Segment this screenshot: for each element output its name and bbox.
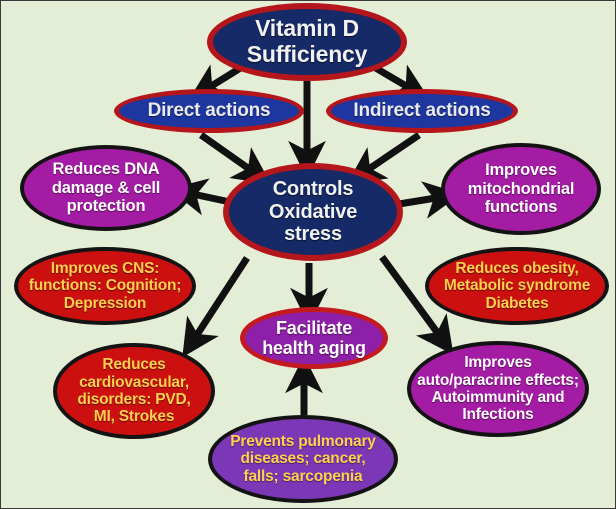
- node-vitamin-d-sufficiency[interactable]: Vitamin DSufficiency: [207, 3, 407, 81]
- arrow-indirect-controls: [363, 135, 419, 173]
- node-controls-oxidative-stress[interactable]: ControlsOxidativestress: [223, 163, 403, 261]
- node-label: Improvesmitochondrialfunctions: [445, 161, 597, 216]
- node-label: Facilitatehealth aging: [245, 318, 383, 358]
- node-improves-mitochondrial-functions[interactable]: Improvesmitochondrialfunctions: [441, 143, 601, 235]
- node-improves-cns-functions[interactable]: Improves CNS:functions: Cognition;Depres…: [14, 247, 196, 325]
- node-improves-auto-paracrine-effects[interactable]: Improvesauto/paracrine effects;Autoimmun…: [407, 341, 589, 437]
- node-label: Improves CNS:functions: Cognition;Depres…: [18, 260, 192, 312]
- node-label: Direct actions: [119, 100, 299, 121]
- arrow-controls-cardio: [193, 258, 247, 341]
- node-label: Reduces DNAdamage & cellprotection: [24, 160, 188, 215]
- arrow-direct-controls: [201, 135, 255, 173]
- node-reduces-cardiovascular-disorders[interactable]: Reducescardiovascular,disorders: PVD,MI,…: [53, 343, 215, 439]
- arrow-controls-mito: [399, 197, 442, 204]
- diagram-canvas: Vitamin DSufficiency Direct actions Indi…: [0, 0, 616, 509]
- node-label: Improvesauto/paracrine effects;Autoimmun…: [411, 354, 585, 423]
- node-indirect-actions[interactable]: Indirect actions: [326, 89, 518, 133]
- node-label: Prevents pulmonarydiseases; cancer,falls…: [212, 433, 394, 485]
- arrow-vitd-direct: [205, 67, 242, 90]
- arrow-controls-dna: [188, 193, 230, 202]
- node-reduces-dna-damage[interactable]: Reduces DNAdamage & cellprotection: [20, 145, 192, 231]
- node-label: ControlsOxidativestress: [229, 178, 397, 245]
- node-reduces-obesity[interactable]: Reduces obesity,Metabolic syndromeDiabet…: [425, 247, 609, 325]
- node-label: Reducescardiovascular,disorders: PVD,MI,…: [57, 356, 211, 425]
- node-label: Indirect actions: [331, 100, 513, 121]
- node-direct-actions[interactable]: Direct actions: [114, 89, 304, 133]
- node-facilitate-health-aging[interactable]: Facilitatehealth aging: [240, 307, 388, 369]
- arrow-vitd-indirect: [374, 67, 413, 90]
- node-prevents-pulmonary-diseases[interactable]: Prevents pulmonarydiseases; cancer,falls…: [208, 415, 398, 503]
- node-label: Reduces obesity,Metabolic syndromeDiabet…: [429, 260, 605, 312]
- node-label: Vitamin DSufficiency: [213, 16, 401, 68]
